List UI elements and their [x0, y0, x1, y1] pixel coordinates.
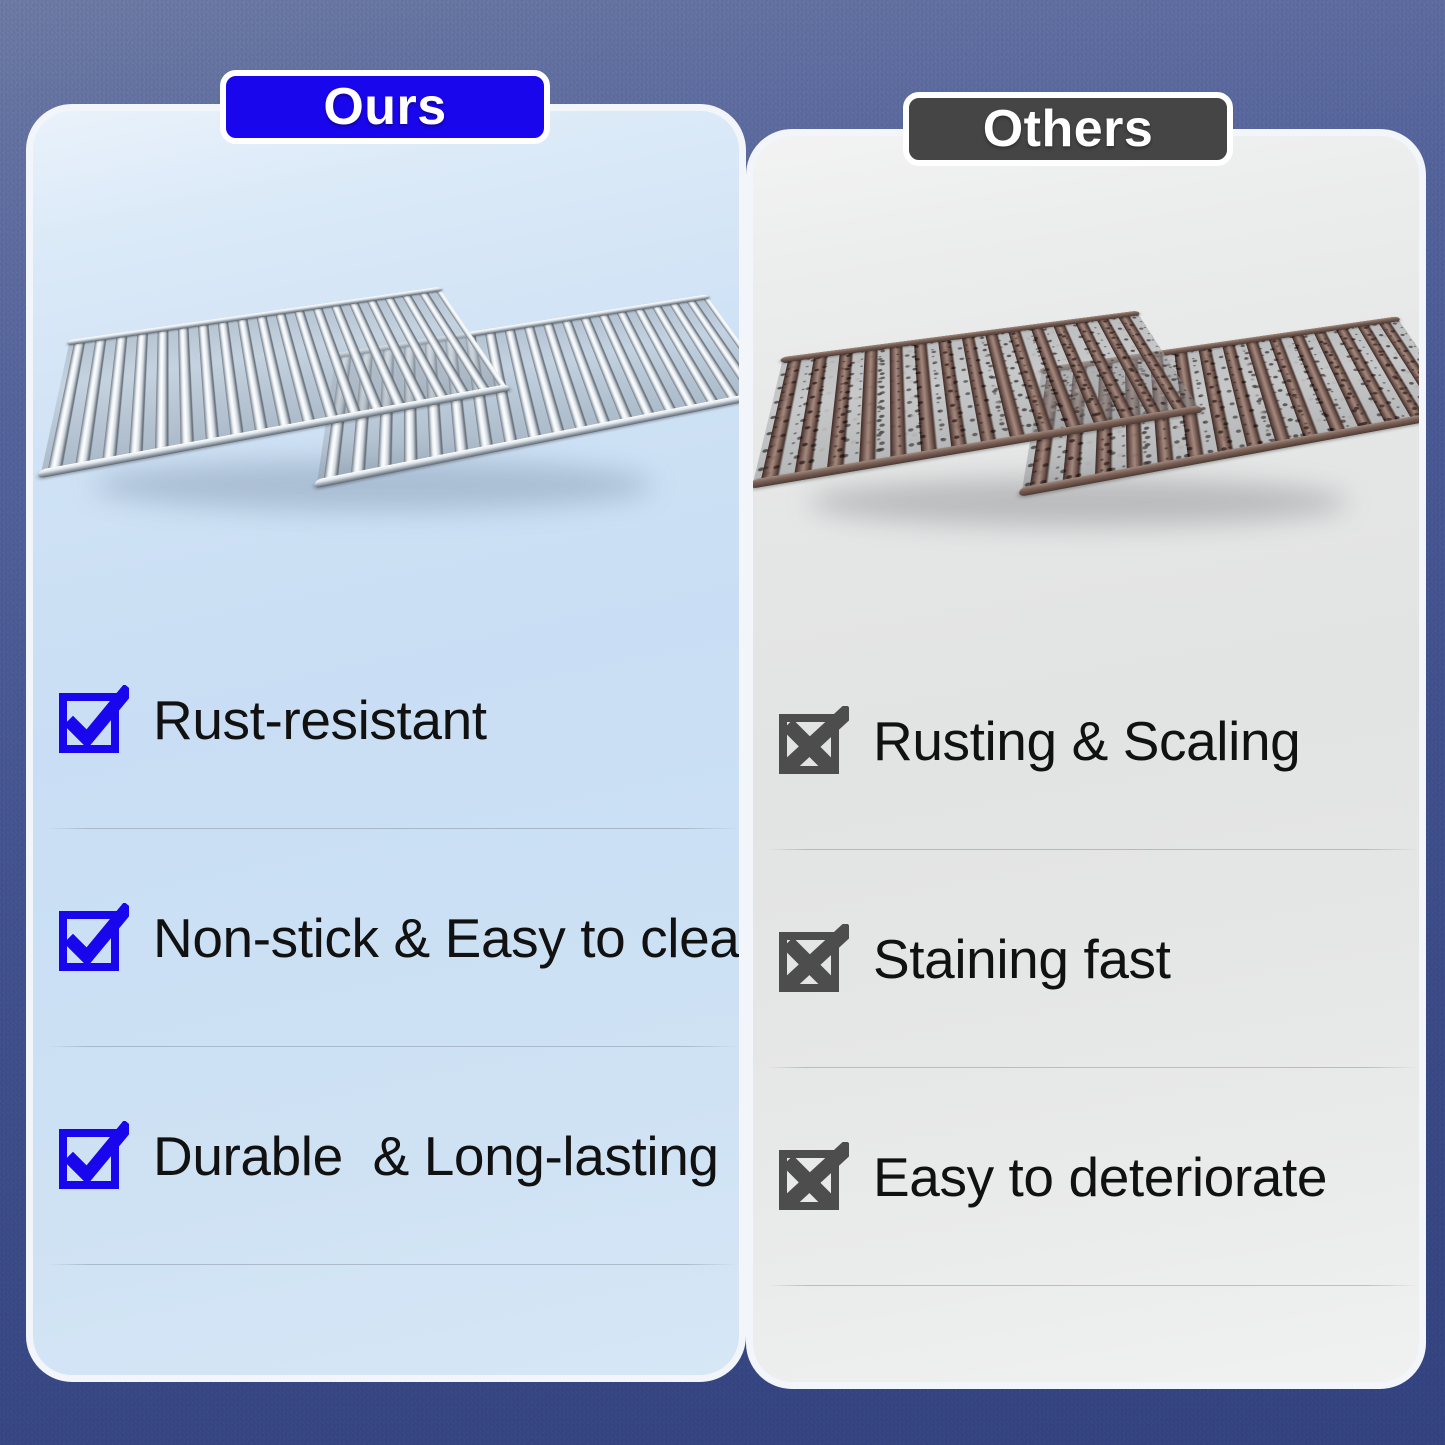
checkbox-crossed-icon	[779, 924, 849, 994]
feature-label: Non-stick & Easy to clean	[153, 911, 746, 966]
product-image-rusted-grates	[753, 256, 1419, 576]
panel-ours: Rust-resistant Non-stick & Easy to clean	[26, 104, 746, 1382]
panel-others: Rusting & Scaling Staining fast	[746, 129, 1426, 1389]
feature-label: Rust-resistant	[153, 693, 487, 748]
badge-others: Others	[903, 92, 1233, 166]
feature-row: Durable & Long-lasting	[33, 1047, 739, 1265]
feature-list-ours: Rust-resistant Non-stick & Easy to clean	[33, 611, 739, 1265]
comparison-infographic: Rust-resistant Non-stick & Easy to clean	[0, 0, 1445, 1445]
feature-label: Easy to deteriorate	[873, 1150, 1327, 1205]
feature-label: Staining fast	[873, 932, 1171, 987]
badge-others-label: Others	[983, 99, 1154, 159]
feature-label: Rusting & Scaling	[873, 714, 1300, 769]
badge-ours: Ours	[220, 70, 550, 144]
checkbox-crossed-icon	[779, 706, 849, 776]
checkbox-checked-icon	[59, 1121, 129, 1191]
feature-label: Durable & Long-lasting	[153, 1129, 719, 1184]
checkbox-checked-icon	[59, 903, 129, 973]
product-image-stainless-grates	[33, 231, 739, 561]
feature-row: Rusting & Scaling	[753, 632, 1419, 850]
checkbox-crossed-icon	[779, 1142, 849, 1212]
feature-row: Rust-resistant	[33, 611, 739, 829]
badge-ours-label: Ours	[323, 77, 446, 137]
feature-row: Easy to deteriorate	[753, 1068, 1419, 1286]
feature-row: Staining fast	[753, 850, 1419, 1068]
feature-row: Non-stick & Easy to clean	[33, 829, 739, 1047]
checkbox-checked-icon	[59, 685, 129, 755]
feature-list-others: Rusting & Scaling Staining fast	[753, 632, 1419, 1286]
